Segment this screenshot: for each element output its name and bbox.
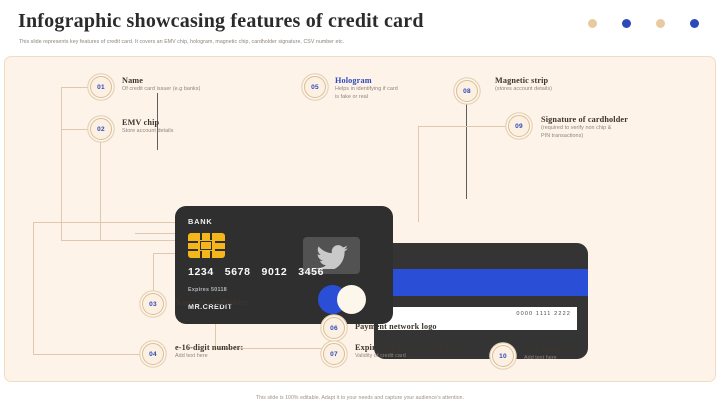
callout-07-desc: Validity of credit card xyxy=(355,353,460,361)
callout-03-title: Name of cardholder xyxy=(175,297,248,308)
connector-line-02 xyxy=(61,129,90,130)
connector-line-04-top xyxy=(33,222,175,223)
decor-dot-1 xyxy=(588,19,597,28)
callout-05-desc: Helps in identifying if card xyxy=(335,86,398,94)
callout-02-title: EMV chip xyxy=(122,117,173,128)
badge-05[interactable]: 05 xyxy=(304,76,326,98)
slide-footer: This slide is 100% editable. Adapt it to… xyxy=(0,386,720,404)
slide-header: Infographic showcasing features of credi… xyxy=(0,0,720,56)
callout-03-cardholder-name[interactable]: Name of cardholder xyxy=(175,297,248,308)
connector-line-to-card-left xyxy=(61,240,175,241)
infographic-panel: 01 Name Of credit card issuer (e.g banks… xyxy=(4,56,716,382)
callout-06-payment-network-logo[interactable]: Payment network logo xyxy=(355,321,437,332)
card-number-group-3: 9012 xyxy=(262,266,288,278)
callout-05-title: Hologram xyxy=(335,75,398,86)
signature-panel-number: 0000 1111 2222 xyxy=(516,311,571,317)
badge-08-number: 08 xyxy=(463,88,471,95)
callout-10-title: CSV number xyxy=(524,344,572,355)
badge-09-number: 09 xyxy=(515,123,523,130)
callout-08-magnetic-strip[interactable]: Magnetic strip (stores account details) xyxy=(495,75,552,94)
connector-line-04 xyxy=(33,354,143,355)
callout-05-desc2: is fake or real xyxy=(335,94,398,102)
callout-07-expiration-date[interactable]: Expiration and/ or start date Validity o… xyxy=(355,342,460,361)
badge-04-number: 04 xyxy=(149,351,157,358)
badge-02[interactable]: 02 xyxy=(90,118,112,140)
callout-02-desc: Store account details xyxy=(122,128,173,136)
card-number-group-4: 3456 xyxy=(298,266,324,278)
badge-06[interactable]: 06 xyxy=(323,317,345,339)
badge-06-number: 06 xyxy=(330,325,338,332)
slide-root: Infographic showcasing features of credi… xyxy=(0,0,720,404)
badge-04[interactable]: 04 xyxy=(142,343,164,365)
connector-line-08 xyxy=(466,91,467,199)
badge-09[interactable]: 09 xyxy=(508,115,530,137)
badge-03-number: 03 xyxy=(149,301,157,308)
badge-03[interactable]: 03 xyxy=(142,293,164,315)
emv-chip-icon xyxy=(188,233,225,258)
connector-line-09-vert xyxy=(418,126,419,222)
callout-09-desc: (required to verify non chip & xyxy=(541,125,628,133)
badge-05-number: 05 xyxy=(311,84,319,91)
callout-05-hologram[interactable]: Hologram Helps in identifying if card is… xyxy=(335,75,398,101)
callout-07-title: Expiration and/ or start date xyxy=(355,342,460,353)
connector-line-04-vert xyxy=(33,222,34,354)
badge-01-number: 01 xyxy=(97,84,105,91)
decor-dot-2 xyxy=(622,19,631,28)
badge-01[interactable]: 01 xyxy=(90,76,112,98)
callout-01-name[interactable]: Name Of credit card issuer (e.g banks) xyxy=(122,75,200,94)
callout-09-signature[interactable]: Signature of cardholder (required to ver… xyxy=(541,114,628,140)
page-title: Infographic showcasing features of credi… xyxy=(18,10,424,33)
decor-dot-4 xyxy=(690,19,699,28)
callout-09-title: Signature of cardholder xyxy=(541,114,628,125)
callout-08-title: Magnetic strip xyxy=(495,75,552,86)
magnetic-strip xyxy=(374,269,588,296)
connector-line-09 xyxy=(418,126,508,127)
callout-01-desc: Of credit card issuer (e.g banks) xyxy=(122,86,200,94)
connector-line-02-drop xyxy=(100,129,101,240)
callout-09-desc2: PIN transactions) xyxy=(541,133,628,141)
bank-label: BANK xyxy=(188,217,213,226)
card-number-group-1: 1234 xyxy=(188,266,214,278)
card-number-group-2: 5678 xyxy=(225,266,251,278)
callout-02-emv-chip[interactable]: EMV chip Store account details xyxy=(122,117,173,136)
connector-line-03-top xyxy=(153,253,177,254)
callout-10-desc: Add text here xyxy=(524,355,572,363)
callout-04-desc: Add text here xyxy=(175,353,243,361)
callout-10-csv-number[interactable]: CSV number Add text here xyxy=(524,344,572,363)
decor-dot-3 xyxy=(656,19,665,28)
badge-07[interactable]: 07 xyxy=(323,343,345,365)
badge-10[interactable]: 10 xyxy=(492,345,514,367)
badge-10-number: 10 xyxy=(499,353,507,360)
callout-08-desc: (stores account details) xyxy=(495,86,552,94)
connector-line-01 xyxy=(61,87,90,88)
badge-02-number: 02 xyxy=(97,126,105,133)
card-number: 1234567890123456 xyxy=(188,266,324,278)
decorative-dots xyxy=(542,18,702,32)
callout-04-title: e-16-digit number: xyxy=(175,342,243,353)
callout-06-title: Payment network logo xyxy=(355,321,437,332)
badge-07-number: 07 xyxy=(330,351,338,358)
payment-network-logo-icon xyxy=(318,285,366,314)
footer-note: This slide is 100% editable. Adapt it to… xyxy=(256,395,464,401)
connector-line-left-spine xyxy=(61,87,62,240)
badge-08[interactable]: 08 xyxy=(456,80,478,102)
callout-04-digit-number[interactable]: e-16-digit number: Add text here xyxy=(175,342,243,361)
callout-01-title: Name xyxy=(122,75,200,86)
page-subtitle: This slide represents key features of cr… xyxy=(19,39,344,45)
card-expiry: Expires 50118 xyxy=(188,287,227,293)
paylogo-circle-white xyxy=(337,285,366,314)
